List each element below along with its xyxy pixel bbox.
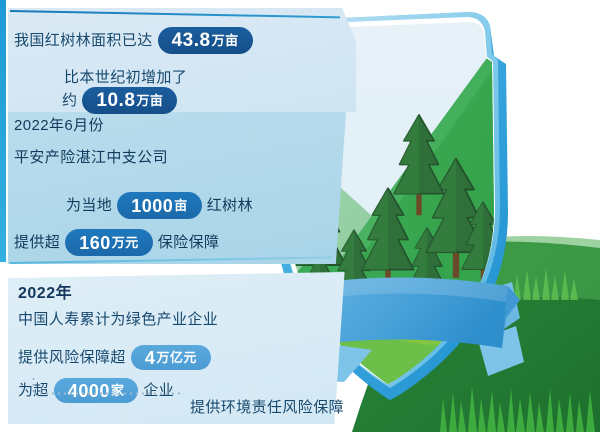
badge-increase-value: 10.8万亩 [82, 87, 177, 114]
badge-mangrove-total-value: 43.8 [172, 31, 211, 50]
badge-enterprise-count-value: 4000 [68, 382, 110, 400]
badge-enterprise-count: 4000家 [54, 378, 139, 403]
label-env-liability: 提供环境责任风险保障 [190, 400, 344, 415]
badge-local-area-value: 1000 [131, 197, 173, 215]
label-mangrove-suffix: 红树林 [207, 198, 253, 213]
label-year-2022: 2022年 [18, 286, 72, 302]
infographic-canvas: 我国红树林面积已达 43.8万亩 比本世纪初增加了 约 10.8万亩 2022年… [0, 0, 600, 432]
label-risk-coverage: 提供风险保障超 [18, 350, 126, 365]
badge-mangrove-total: 43.8万亩 [158, 27, 253, 54]
label-insurance-suffix: 保险保障 [158, 235, 220, 250]
row-date-2022-06: 2022年6月份 [14, 118, 104, 133]
label-approx: 约 [62, 93, 77, 108]
badge-insurance-amount-value: 160 [79, 234, 111, 252]
label-enterprise-suffix: 企业 [143, 383, 174, 398]
label-provide-over: 提供超 [14, 235, 60, 250]
badge-risk-coverage-value: 4 [145, 349, 156, 367]
badge-risk-coverage: 4万亿元 [131, 345, 211, 370]
row-mangrove-total: 我国红树林面积已达 43.8万亩 [14, 27, 253, 54]
label-date-2022-06: 2022年6月份 [14, 118, 104, 133]
badge-insurance-amount-unit: 万元 [112, 236, 139, 249]
badge-local-area: 1000亩 [117, 192, 202, 219]
row-enterprise-count: 为超 4000家 企业 [18, 378, 174, 403]
row-env-liability: 提供环境责任风险保障 [190, 400, 344, 415]
badge-mangrove-total-unit: 万亩 [212, 34, 239, 47]
badge-insurance-amount: 160万元 [65, 229, 153, 256]
row-local-mangrove: 为当地 1000亩 红树林 [66, 192, 253, 219]
panel-mangrove-area [8, 8, 356, 112]
row-year-2022: 2022年 [18, 286, 72, 302]
badge-local-area-unit: 亩 [174, 199, 188, 212]
row-insurance-amount: 提供超 160万元 保险保障 [14, 229, 219, 256]
dotted-connector-horizontal [32, 392, 182, 395]
badge-enterprise-count-unit: 家 [111, 384, 125, 397]
row-china-life-desc: 中国人寿累计为绿色产业企业 [18, 312, 218, 327]
row-risk-coverage: 提供风险保障超 4万亿元 [18, 345, 211, 370]
row-company-name: 平安产险湛江中支公司 [14, 150, 168, 165]
badge-risk-coverage-unit: 万亿元 [156, 351, 197, 364]
label-company-name: 平安产险湛江中支公司 [14, 150, 168, 165]
badge-increase-number: 10.8 [96, 91, 135, 110]
row-increase-label: 比本世纪初增加了 [64, 70, 187, 85]
label-china-life-desc: 中国人寿累计为绿色产业企业 [18, 312, 218, 327]
label-increase: 比本世纪初增加了 [64, 70, 187, 85]
label-for-local: 为当地 [66, 198, 112, 213]
badge-increase-unit: 万亩 [136, 94, 163, 107]
label-mangrove-total: 我国红树林面积已达 [14, 33, 153, 48]
row-increase-value: 约 10.8万亩 [62, 87, 177, 114]
